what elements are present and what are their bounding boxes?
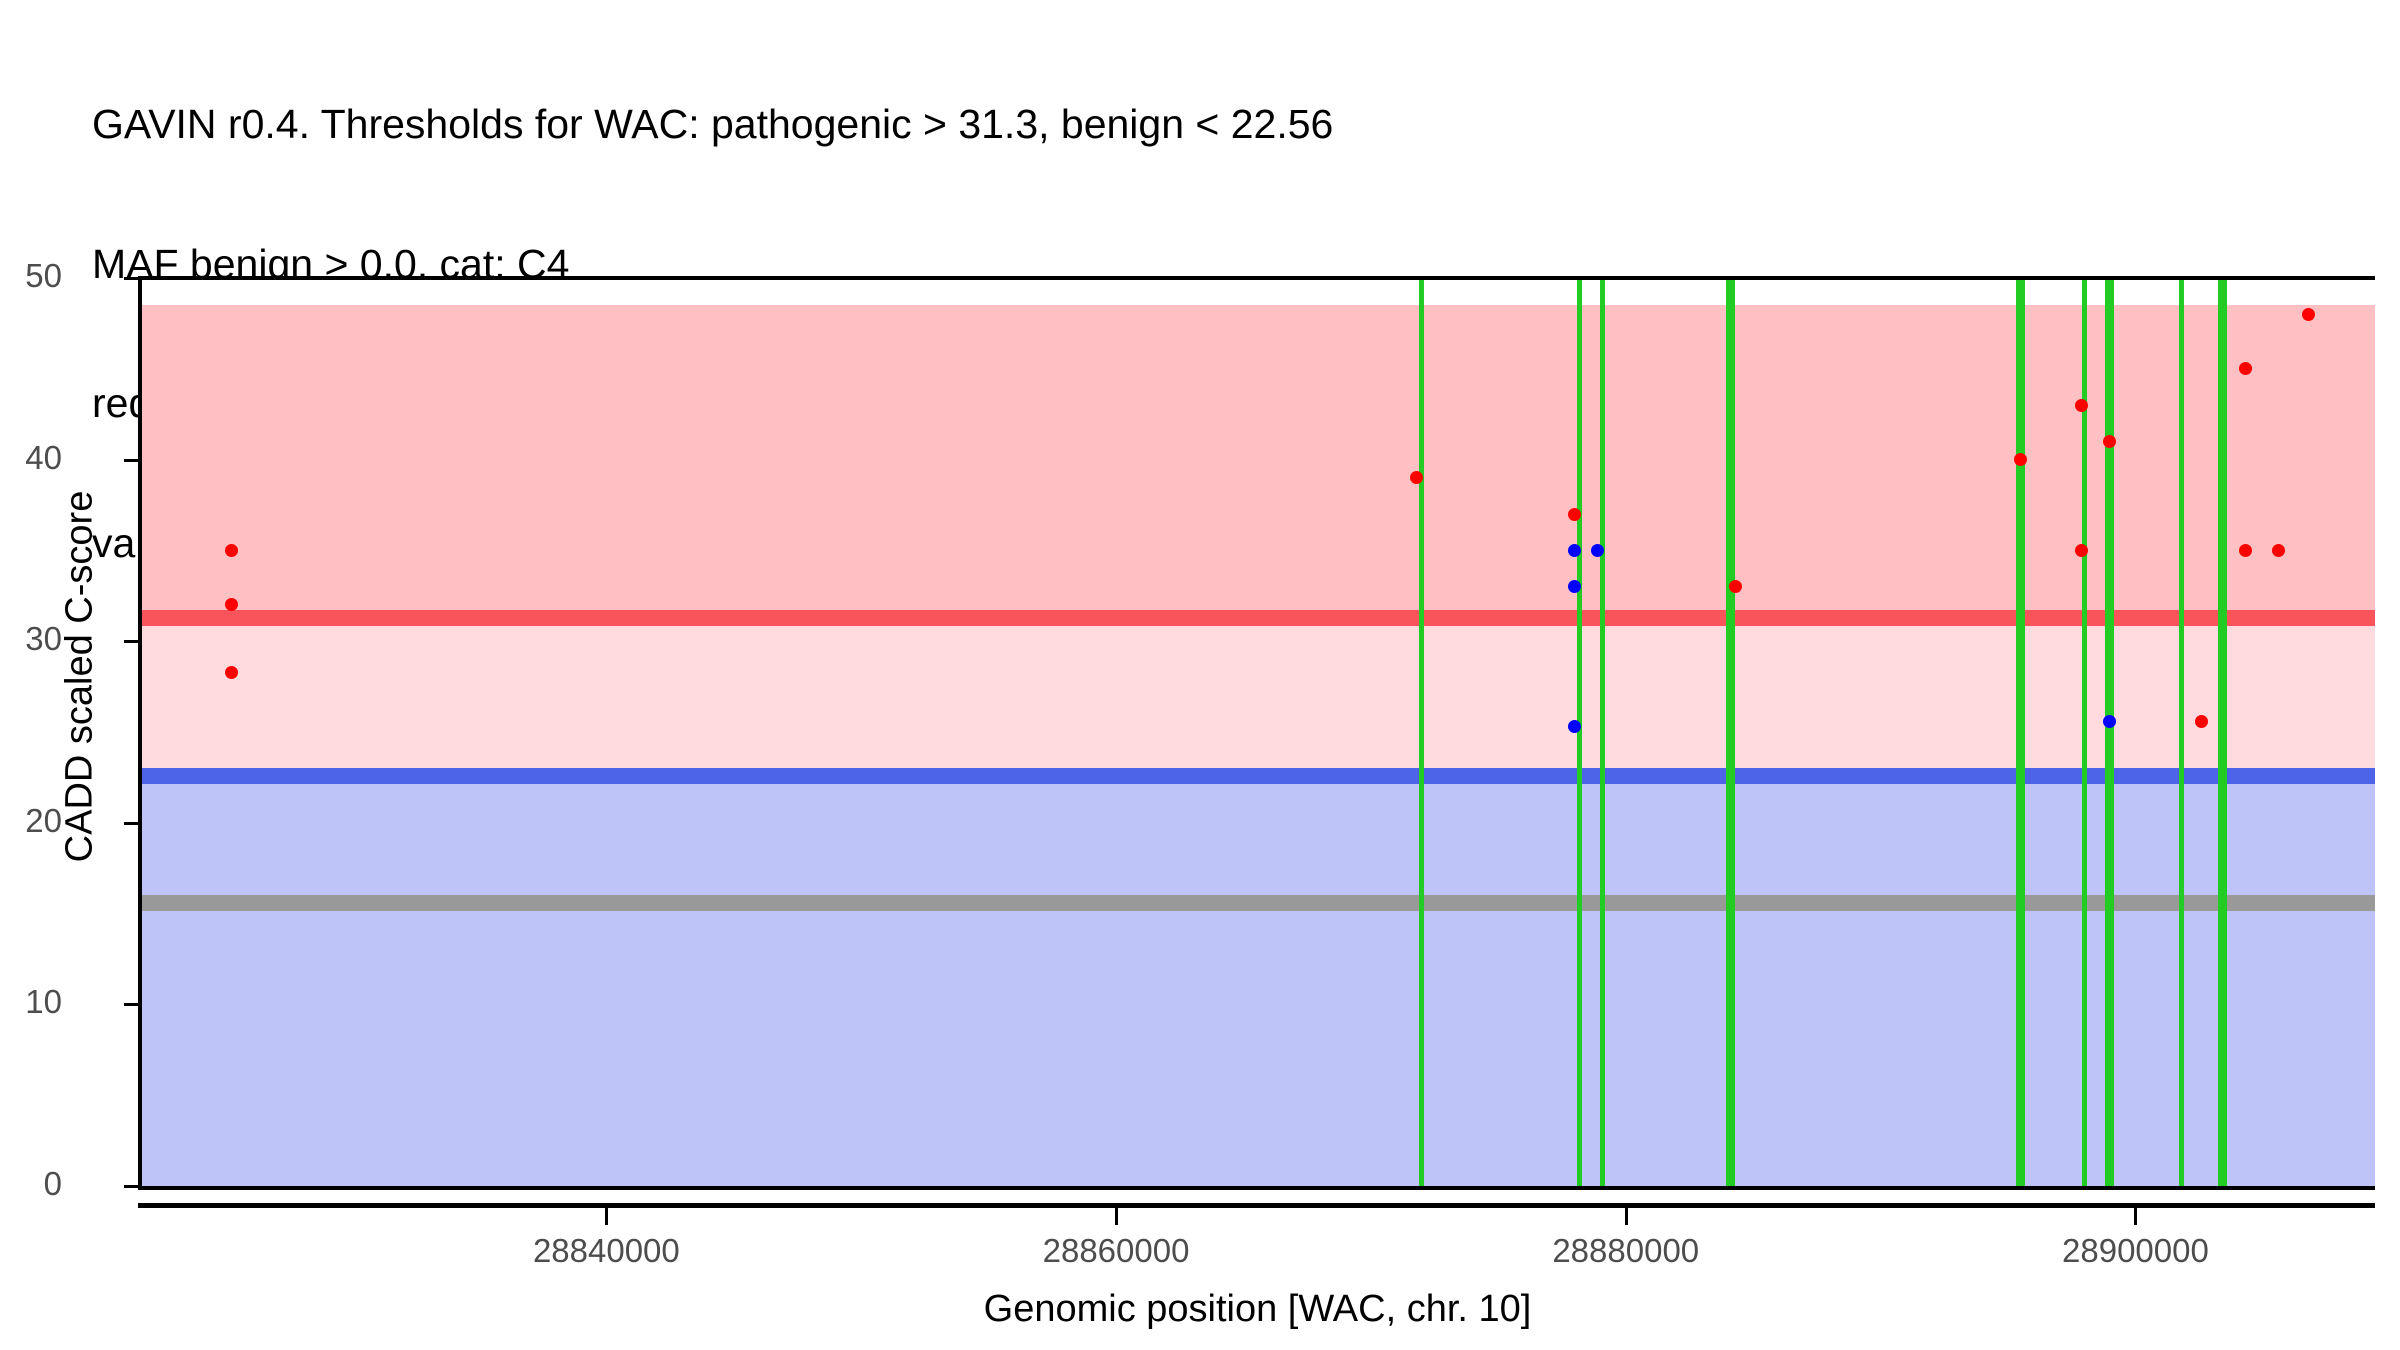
- threshold-line-genome-wide-fallback-threshold: [140, 895, 2375, 911]
- x-axis-line: [138, 1203, 2375, 1208]
- x-axis-tick-label: 28900000: [1985, 1232, 2285, 1270]
- y-axis-tick: [124, 277, 141, 280]
- x-axis-tick: [1625, 1208, 1628, 1225]
- y-axis-tick-label: 40: [0, 439, 62, 477]
- refseq-exon-line: [2105, 278, 2114, 1186]
- x-axis-tick-label: 28840000: [456, 1232, 756, 1270]
- clinvar-pathogenic-point: [2075, 399, 2088, 412]
- y-axis-label: CADD scaled C-score: [59, 227, 102, 1127]
- refseq-exon-line: [2016, 278, 2025, 1186]
- y-axis-tick-label: 10: [0, 983, 62, 1021]
- y-axis-tick-label: 30: [0, 620, 62, 658]
- y-axis-tick: [124, 822, 141, 825]
- threshold-line-benign-threshold: [140, 768, 2375, 784]
- x-axis-tick-label: 28880000: [1476, 1232, 1776, 1270]
- chart-figure: GAVIN r0.4. Thresholds for WAC: pathogen…: [0, 0, 2400, 1350]
- band-pathogenic-zone: [140, 305, 2375, 617]
- clinvar-pathogenic-point: [2239, 544, 2252, 557]
- y-axis-tick-label: 0: [0, 1165, 62, 1203]
- refseq-exon-line: [1726, 278, 1735, 1186]
- clinvar-pathogenic-point: [1568, 508, 1581, 521]
- refseq-exon-line: [2218, 278, 2227, 1186]
- title-line-1: GAVIN r0.4. Thresholds for WAC: pathogen…: [92, 101, 2372, 148]
- clinvar-pathogenic-point: [2272, 544, 2285, 557]
- clinvar-pathogenic-point: [225, 666, 238, 679]
- refseq-exon-line: [2179, 278, 2184, 1186]
- x-axis-label: Genomic position [WAC, chr. 10]: [140, 1288, 2375, 1331]
- x-axis-tick: [605, 1208, 608, 1225]
- y-axis-tick-label: 50: [0, 257, 62, 295]
- x-axis-tick-label: 28860000: [966, 1232, 1266, 1270]
- y-axis-tick-label: 20: [0, 802, 62, 840]
- refseq-exon-line: [1577, 278, 1582, 1186]
- gnomad-variant-point: [2103, 715, 2116, 728]
- clinvar-pathogenic-point: [1729, 580, 1742, 593]
- plot-panel: [140, 278, 2375, 1186]
- clinvar-pathogenic-point: [2195, 715, 2208, 728]
- y-axis-tick: [124, 1003, 141, 1006]
- refseq-exon-line: [1419, 278, 1424, 1186]
- clinvar-pathogenic-point: [2239, 362, 2252, 375]
- clinvar-pathogenic-point: [2302, 308, 2315, 321]
- threshold-line-pathogenic-threshold: [140, 610, 2375, 626]
- refseq-exon-line: [1600, 278, 1605, 1186]
- x-axis-tick: [2134, 1208, 2137, 1225]
- x-axis-tick: [1115, 1208, 1118, 1225]
- y-axis-tick: [124, 1185, 141, 1188]
- y-axis-line: [138, 276, 142, 1190]
- band-benign-zone: [140, 776, 2375, 1186]
- panel-top-border: [140, 276, 2375, 280]
- refseq-exon-line: [2082, 278, 2087, 1186]
- y-axis-tick: [124, 459, 141, 462]
- y-axis-tick: [124, 640, 141, 643]
- band-vous-zone: [140, 618, 2375, 777]
- panel-bottom-border: [140, 1186, 2375, 1190]
